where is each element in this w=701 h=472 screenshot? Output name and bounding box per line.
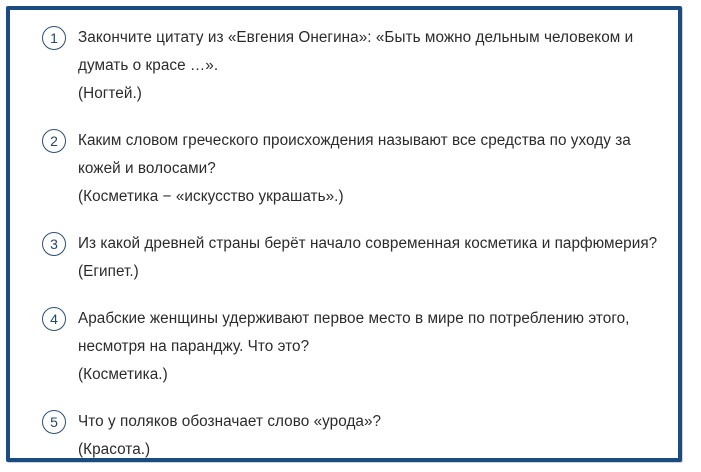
question-answer: (Косметика.)	[78, 361, 666, 389]
question-answer: (Египет.)	[78, 258, 666, 286]
question-body: Каким словом греческого происхождения на…	[78, 127, 666, 211]
question-answer: (Ногтей.)	[78, 80, 666, 108]
list-item: 1 Закончите цитату из «Евгения Онегина»:…	[10, 24, 678, 108]
question-answer: (Красота.)	[78, 436, 666, 464]
question-body: Закончите цитату из «Евгения Онегина»: «…	[78, 24, 666, 108]
question-body: Что у поляков обозначает слово «урода»? …	[78, 408, 666, 464]
question-text: Что у поляков обозначает слово «урода»?	[78, 408, 666, 436]
list-item: 5 Что у поляков обозначает слово «урода»…	[10, 408, 678, 464]
question-number-badge: 2	[42, 129, 66, 153]
list-item: 2 Каким словом греческого происхождения …	[10, 127, 678, 211]
question-body: Из какой древней страны берёт начало сов…	[78, 230, 666, 286]
list-item: 3 Из какой древней страны берёт начало с…	[10, 230, 678, 286]
question-answer: (Косметика − «искусство украшать».)	[78, 183, 666, 211]
question-number-badge: 3	[42, 232, 66, 256]
question-text: Из какой древней страны берёт начало сов…	[78, 230, 666, 258]
quiz-card: 1 Закончите цитату из «Евгения Онегина»:…	[6, 6, 682, 462]
question-text: Каким словом греческого происхождения на…	[78, 127, 666, 183]
question-list: 1 Закончите цитату из «Евгения Онегина»:…	[10, 10, 678, 464]
list-item: 4 Арабские женщины удерживают первое мес…	[10, 305, 678, 389]
question-number-badge: 1	[42, 26, 66, 50]
question-number-badge: 4	[42, 307, 66, 331]
question-number-badge: 5	[42, 410, 66, 434]
question-body: Арабские женщины удерживают первое место…	[78, 305, 666, 389]
question-text: Арабские женщины удерживают первое место…	[78, 305, 666, 361]
question-text: Закончите цитату из «Евгения Онегина»: «…	[78, 24, 666, 80]
